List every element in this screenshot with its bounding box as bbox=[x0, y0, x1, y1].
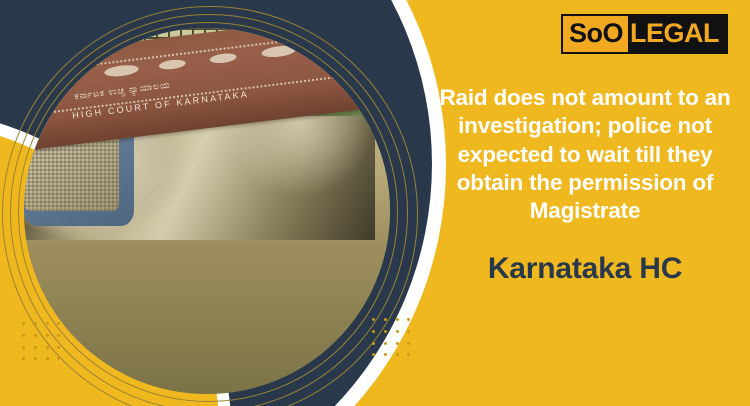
soolegal-logo[interactable]: SoO LEGAL bbox=[561, 14, 728, 54]
signboard-state-emblem bbox=[371, 28, 390, 73]
dot-grid-right bbox=[372, 318, 412, 358]
logo-text-legal: LEGAL bbox=[628, 16, 726, 52]
logo-text-soo: SoO bbox=[563, 16, 628, 52]
text-column: Raid does not amount to an investigation… bbox=[432, 84, 738, 286]
news-card: ಕರ್ನಾಟಕ ಉಚ್ಚ ನ್ಯಾಯಾಲಯ HIGH COURT OF KARN… bbox=[0, 0, 750, 406]
dot-grid-left bbox=[22, 322, 62, 362]
high-court-raid-photo: ಕರ್ನಾಟಕ ಉಚ್ಚ ನ್ಯಾಯಾಲಯ HIGH COURT OF KARN… bbox=[24, 28, 390, 394]
source-court-label: Karnataka HC bbox=[432, 252, 738, 286]
headline-text: Raid does not amount to an investigation… bbox=[432, 84, 738, 226]
